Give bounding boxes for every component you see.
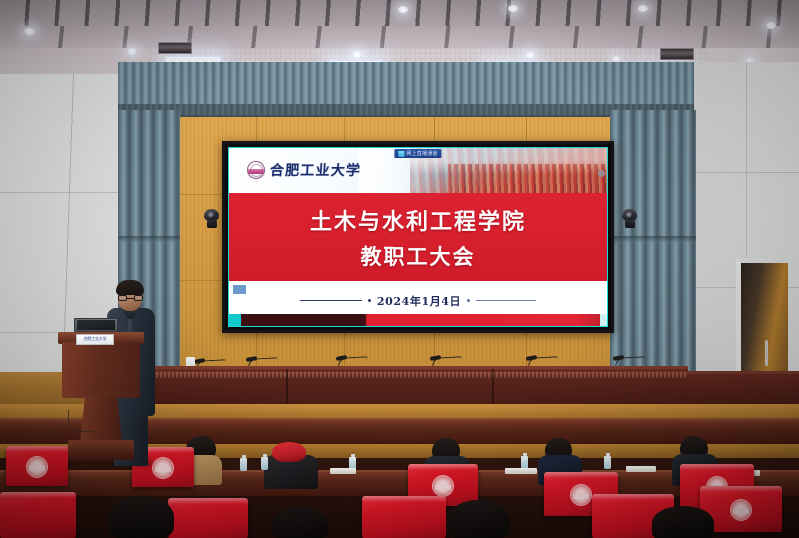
ceiling-downlight [127,48,137,55]
speaker-hair [116,280,144,295]
seat-crest-emblem [432,475,454,497]
ceiling-slat-band-secondary [0,26,799,48]
desk-edge-moulding [140,372,688,378]
ceiling-downlight [508,5,518,12]
seat-highlight [700,486,782,492]
ceiling-air-vent [660,48,694,60]
seat-crest-emblem [730,499,752,521]
seat-highlight [680,464,754,470]
live-stream-banner: 网上直播通道 [394,149,441,158]
slide-subtitle: 教职工大会 [361,241,476,271]
ceiling-downlight [352,51,362,58]
podium-nameplate: 合肥工业大学 [76,334,114,345]
slide-header: 网上直播通道 合肥工业大学 [229,148,607,193]
podium-cable [68,410,94,432]
audience-member [652,506,714,538]
slide-bottom-cyan-right [600,314,607,326]
seat-highlight [408,464,478,470]
seat-highlight [362,496,446,502]
ptz-camera [621,209,638,228]
date-rule-left [300,300,362,301]
ceiling-downlight [525,52,535,58]
desk-papers [626,466,656,472]
ptz-camera-mount [207,220,217,228]
desk-papers [505,468,537,474]
audience-head [448,500,510,538]
seat-highlight [544,472,618,478]
desk-papers [330,468,356,474]
podium-base [68,440,134,460]
door-handle [765,340,768,366]
ptz-camera [203,209,220,228]
ceiling-downlight [398,6,408,13]
date-dot-right [467,299,470,302]
water-bottle [604,456,611,469]
ptz-camera-lens-icon [208,212,215,219]
ptz-camera-mount [625,220,635,228]
slide-date: 2024年1月4日 [377,293,461,309]
seat-highlight [168,498,248,504]
hefei-university-of-technology-seal-icon [247,161,265,179]
seat-crest-emblem [26,456,48,478]
seat-crest-emblem [570,484,592,506]
video-stream-icon [398,151,404,157]
glasses-lens-right [134,295,143,301]
university-logo-row: 合肥工业大学 [247,160,361,180]
slide-title-band: 土木与水利工程学院 教职工大会 [229,193,607,281]
ceiling-downlight [638,5,648,12]
audience-head [108,496,174,538]
speaker-podium: 合肥工业大学 [58,332,144,466]
curtain-valance-hem [118,104,694,115]
audience-member [272,508,328,538]
curtain-tieback [610,236,696,243]
podium-body [62,342,140,398]
slide-footer-chip [233,285,246,294]
curtain-tieback [118,236,180,243]
audience-seat [0,492,76,538]
audience-seat [362,496,446,538]
audience-beanie-hat [272,442,306,462]
led-display-screen: 网上直播通道 合肥工业大学 土木与水利工程学院 教职工大会 2024年1月4日 [228,147,608,327]
glasses-lens-left [118,295,127,301]
laptop-screen [77,320,115,330]
slide-header-corner-dot [598,170,605,177]
conference-hall-photo: 网上直播通道 合肥工业大学 土木与水利工程学院 教职工大会 2024年1月4日 [0,0,799,538]
audience-head [652,506,714,538]
audience-head [272,508,328,538]
ceiling-air-vent [158,42,192,54]
seat-highlight [592,494,674,500]
slide-date-row: 2024年1月4日 [300,293,536,309]
date-rule-right [476,300,536,301]
date-dot-left [368,299,371,302]
slide-title: 土木与水利工程学院 [310,204,526,236]
water-bottle [240,458,247,471]
seat-highlight [0,492,76,498]
water-bottle [261,457,268,470]
ceiling-downlight [24,28,35,35]
speaker-glasses-icon [118,295,143,301]
slide-bottom-cyan-left [229,314,241,326]
audience-member [108,496,174,538]
slide-header-photo-detail [448,164,607,193]
university-name: 合肥工业大学 [269,160,362,180]
podium-nameplate-label: 合肥工业大学 [77,335,113,341]
slide-bottom-strip [229,314,607,326]
curtain-valance [118,62,694,117]
ceiling-downlight [766,22,776,29]
audience-seat [168,498,248,538]
live-stream-banner-label: 网上直播通道 [406,150,437,157]
ptz-camera-lens-icon [626,212,633,219]
audience-member [448,500,510,538]
led-display-bezel: 网上直播通道 合肥工业大学 土木与水利工程学院 教职工大会 2024年1月4日 [222,141,614,333]
